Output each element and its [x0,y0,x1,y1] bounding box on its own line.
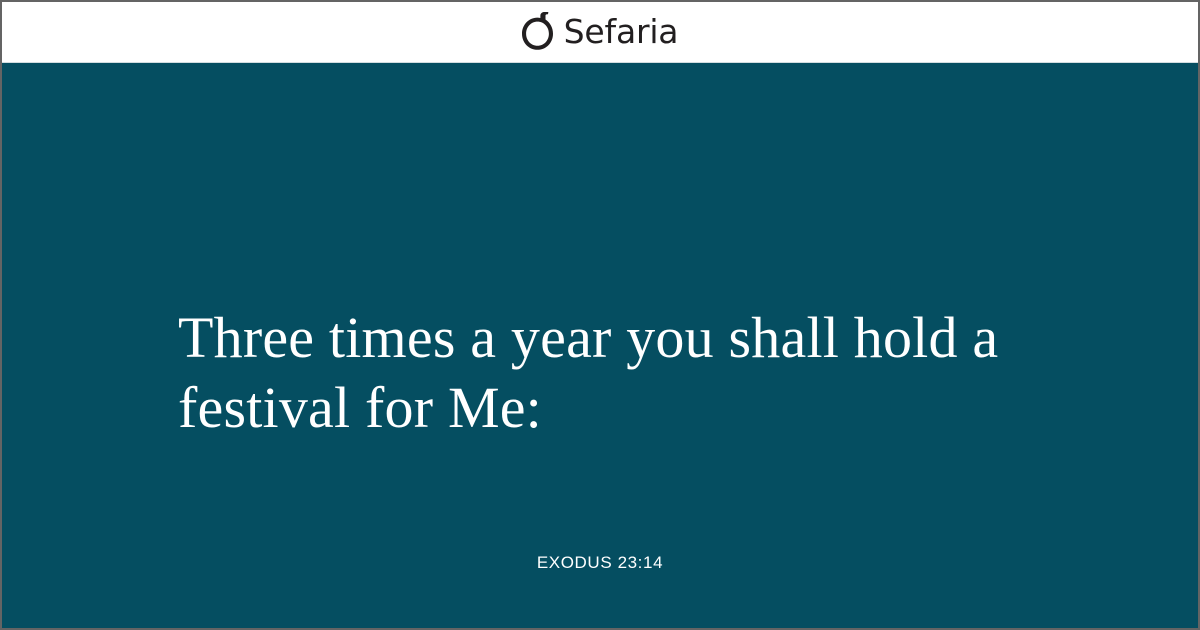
quote-citation: EXODUS 23:14 [2,552,1198,574]
brand-name: Sefaria [564,15,679,48]
sefaria-logo[interactable]: Sefaria [522,12,679,50]
sefaria-quote-card: Sefaria Three times a year you shall hol… [0,0,1200,630]
quote-body: Three times a year you shall hold a fest… [2,63,1198,628]
sefaria-samekh-icon [522,12,553,50]
quote-text: Three times a year you shall hold a fest… [178,303,1058,443]
site-header: Sefaria [2,2,1198,63]
